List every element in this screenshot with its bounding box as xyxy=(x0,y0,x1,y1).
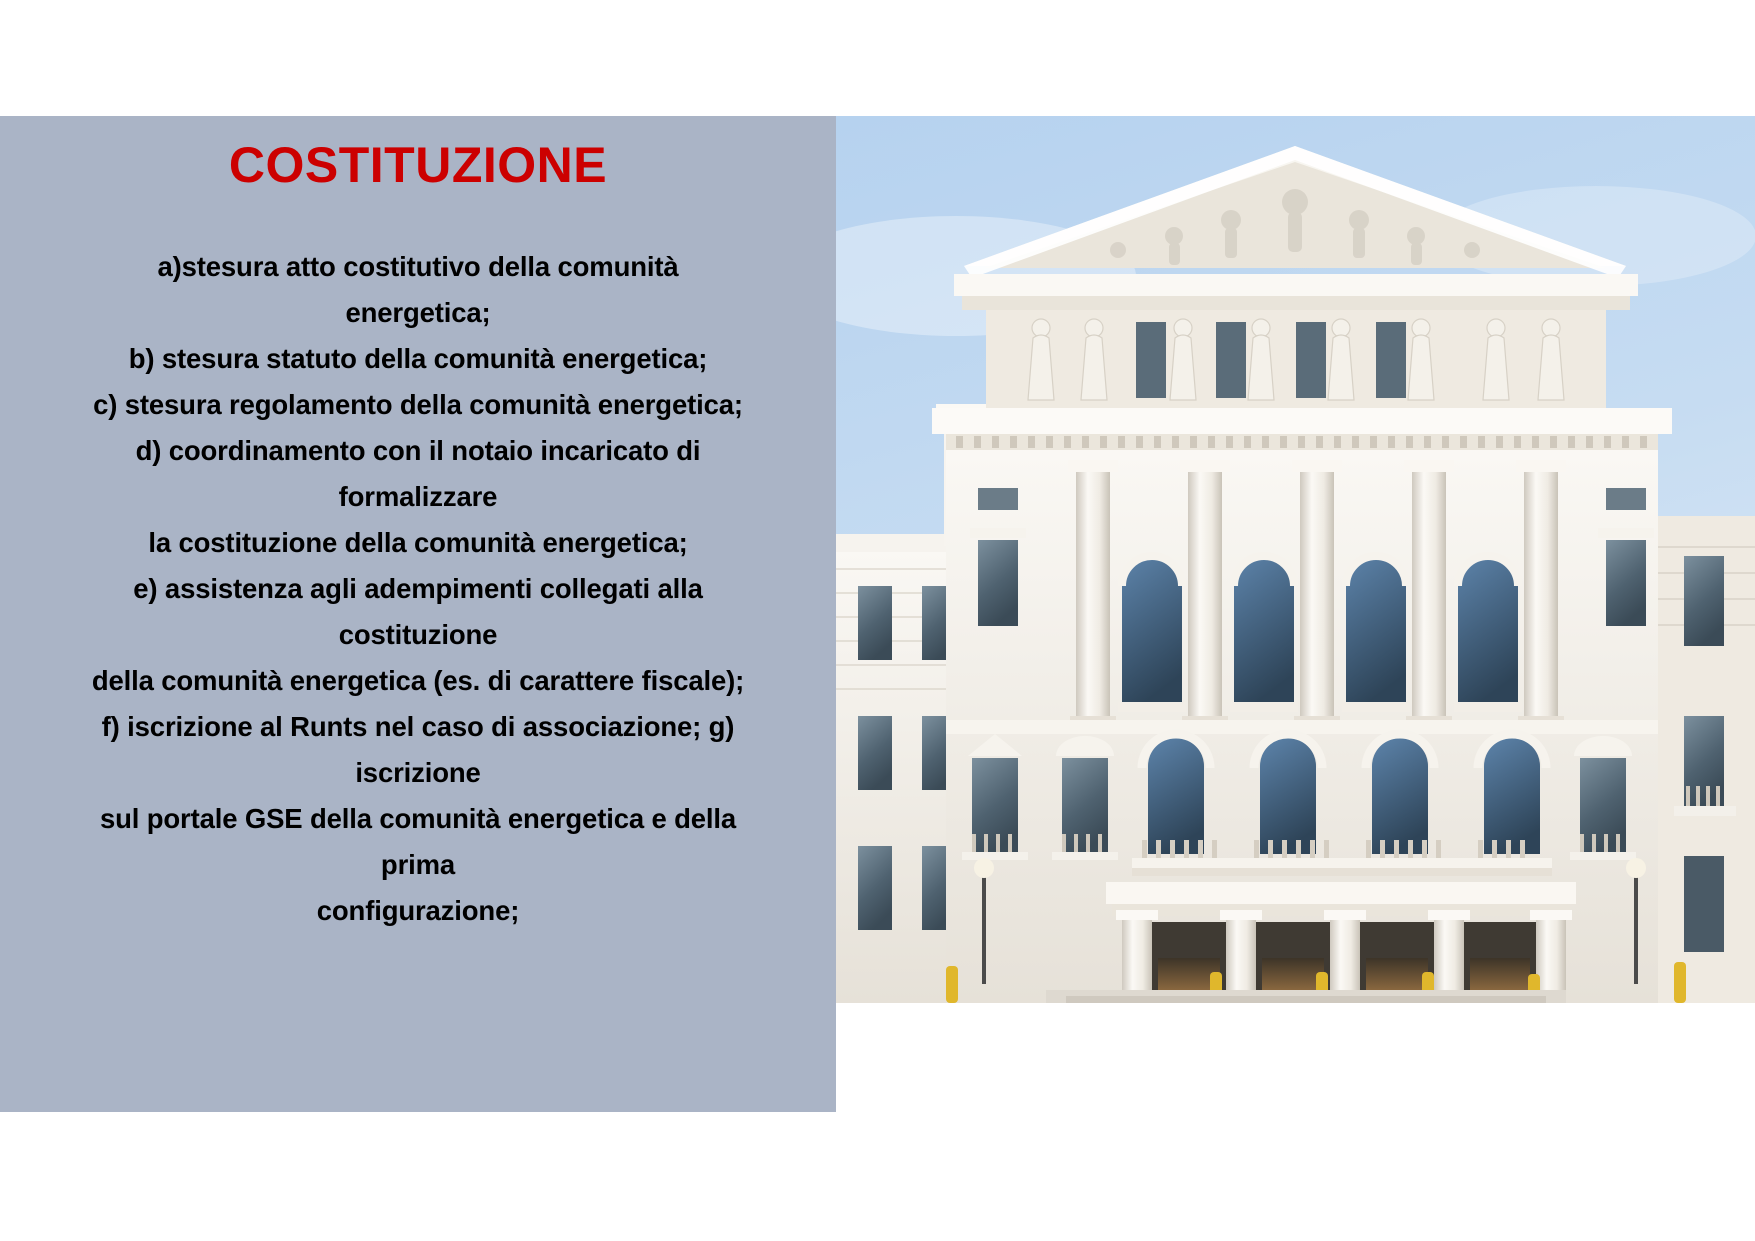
list-item: energetica; xyxy=(0,290,836,336)
bullet-list: a)stesura atto costitutivo della comunit… xyxy=(0,244,836,934)
list-item: la costituzione della comunità energetic… xyxy=(0,520,836,566)
list-item: prima xyxy=(0,842,836,888)
slide-canvas: COSTITUZIONE a)stesura atto costitutivo … xyxy=(0,0,1755,1241)
text-content-panel: COSTITUZIONE a)stesura atto costitutivo … xyxy=(0,116,836,1112)
page-title: COSTITUZIONE xyxy=(0,138,836,193)
list-item: f) iscrizione al Runts nel caso di assoc… xyxy=(0,704,836,750)
list-item: b) stesura statuto della comunità energe… xyxy=(0,336,836,382)
building-illustration xyxy=(836,116,1755,1003)
list-item: configurazione; xyxy=(0,888,836,934)
building-photo xyxy=(836,116,1755,1003)
list-item: costituzione xyxy=(0,612,836,658)
list-item: della comunità energetica (es. di caratt… xyxy=(0,658,836,704)
list-item: d) coordinamento con il notaio incaricat… xyxy=(0,428,836,474)
list-item: c) stesura regolamento della comunità en… xyxy=(0,382,836,428)
list-item: a)stesura atto costitutivo della comunit… xyxy=(0,244,836,290)
list-item: formalizzare xyxy=(0,474,836,520)
list-item: sul portale GSE della comunità energetic… xyxy=(0,796,836,842)
list-item: e) assistenza agli adempimenti collegati… xyxy=(0,566,836,612)
list-item: iscrizione xyxy=(0,750,836,796)
